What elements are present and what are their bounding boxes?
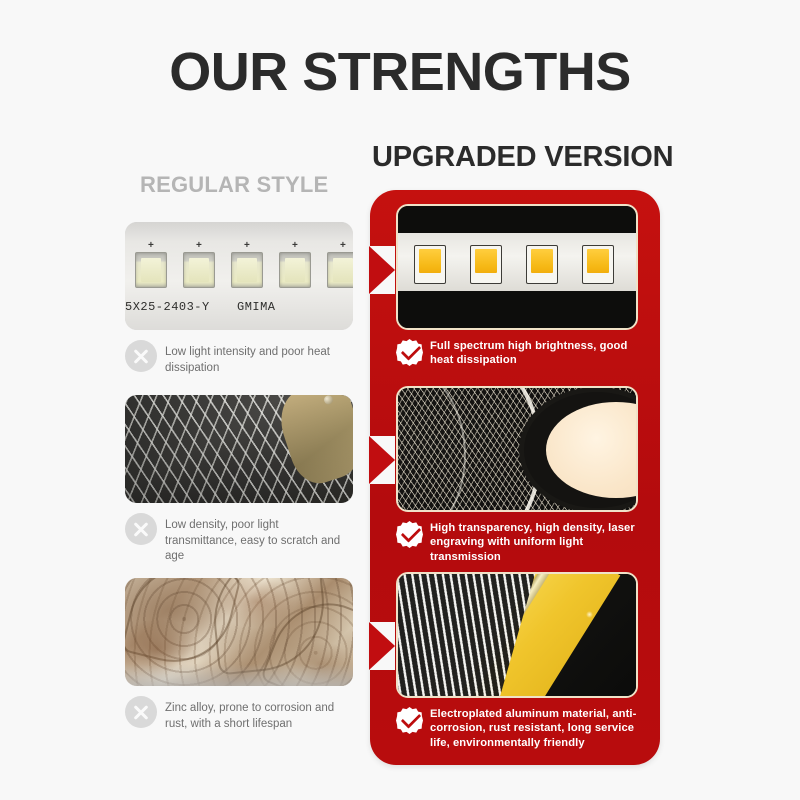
corroded-zinc-art bbox=[125, 578, 353, 686]
column-heading-upgraded: UPGRADED VERSION bbox=[372, 141, 673, 174]
electroplated-aluminum-art bbox=[398, 574, 636, 696]
regular-caption-1: Low light intensity and poor heat dissip… bbox=[125, 344, 353, 376]
arrow-chevron-icon-3 bbox=[369, 622, 395, 670]
upgraded-column-panel: Full spectrum high brightness, good heat… bbox=[370, 190, 660, 765]
upgraded-item-1: Full spectrum high brightness, good heat… bbox=[396, 204, 638, 368]
upgraded-caption-text-1: Full spectrum high brightness, good heat… bbox=[430, 339, 638, 368]
pcb-code-label: 5X25-2403-Y bbox=[125, 300, 210, 314]
led-strip-regular-art: + + + + + 5X25-2403-Y GMIMA bbox=[125, 222, 353, 330]
x-circle-icon bbox=[125, 513, 157, 545]
led-strip-upgraded-photo bbox=[396, 204, 638, 330]
upgraded-item-3: Electroplated aluminum material, anti-co… bbox=[396, 572, 638, 750]
arrow-chevron-icon-2 bbox=[369, 436, 395, 484]
led-strip-upgraded-art bbox=[398, 206, 636, 328]
regular-item-2: Low density, poor light transmittance, e… bbox=[125, 395, 353, 565]
led-strip-regular-photo: + + + + + 5X25-2403-Y GMIMA bbox=[125, 222, 353, 330]
polarity-plus-2: + bbox=[196, 241, 202, 251]
regular-caption-2: Low density, poor light transmittance, e… bbox=[125, 517, 353, 565]
check-badge-icon bbox=[396, 707, 423, 734]
regular-caption-text-1: Low light intensity and poor heat dissip… bbox=[165, 344, 353, 376]
regular-column: + + + + + 5X25-2403-Y GMIMA Low light in… bbox=[0, 0, 370, 800]
laser-engraved-art bbox=[398, 388, 636, 510]
led-chip-row: + + + + + bbox=[125, 244, 353, 290]
upgraded-caption-2: High transparency, high density, laser e… bbox=[396, 521, 638, 564]
arrow-chevron-icon-1 bbox=[369, 246, 395, 294]
polarity-plus-5: + bbox=[340, 241, 346, 251]
regular-item-1: + + + + + 5X25-2403-Y GMIMA Low light in… bbox=[125, 222, 353, 376]
coarse-mesh-art bbox=[125, 395, 353, 503]
upgraded-caption-3: Electroplated aluminum material, anti-co… bbox=[396, 707, 638, 750]
regular-caption-text-2: Low density, poor light transmittance, e… bbox=[165, 517, 353, 565]
upgraded-item-2: High transparency, high density, laser e… bbox=[396, 386, 638, 564]
check-badge-icon bbox=[396, 521, 423, 548]
x-circle-icon bbox=[125, 340, 157, 372]
upgraded-caption-1: Full spectrum high brightness, good heat… bbox=[396, 339, 638, 368]
regular-caption-3: Zinc alloy, prone to corrosion and rust,… bbox=[125, 700, 353, 732]
polarity-plus-1: + bbox=[148, 241, 154, 251]
pcb-mark-label: GMIMA bbox=[237, 300, 276, 314]
regular-item-3: Zinc alloy, prone to corrosion and rust,… bbox=[125, 578, 353, 732]
upgraded-caption-text-2: High transparency, high density, laser e… bbox=[430, 521, 638, 564]
coarse-mesh-diffuser-photo bbox=[125, 395, 353, 503]
polarity-plus-4: + bbox=[292, 241, 298, 251]
polarity-plus-3: + bbox=[244, 241, 250, 251]
corroded-zinc-alloy-photo bbox=[125, 578, 353, 686]
regular-caption-text-3: Zinc alloy, prone to corrosion and rust,… bbox=[165, 700, 353, 732]
upgraded-caption-text-3: Electroplated aluminum material, anti-co… bbox=[430, 707, 638, 750]
laser-engraved-diffuser-photo bbox=[396, 386, 638, 512]
x-circle-icon bbox=[125, 696, 157, 728]
check-badge-icon bbox=[396, 339, 423, 366]
electroplated-aluminum-photo bbox=[396, 572, 638, 698]
